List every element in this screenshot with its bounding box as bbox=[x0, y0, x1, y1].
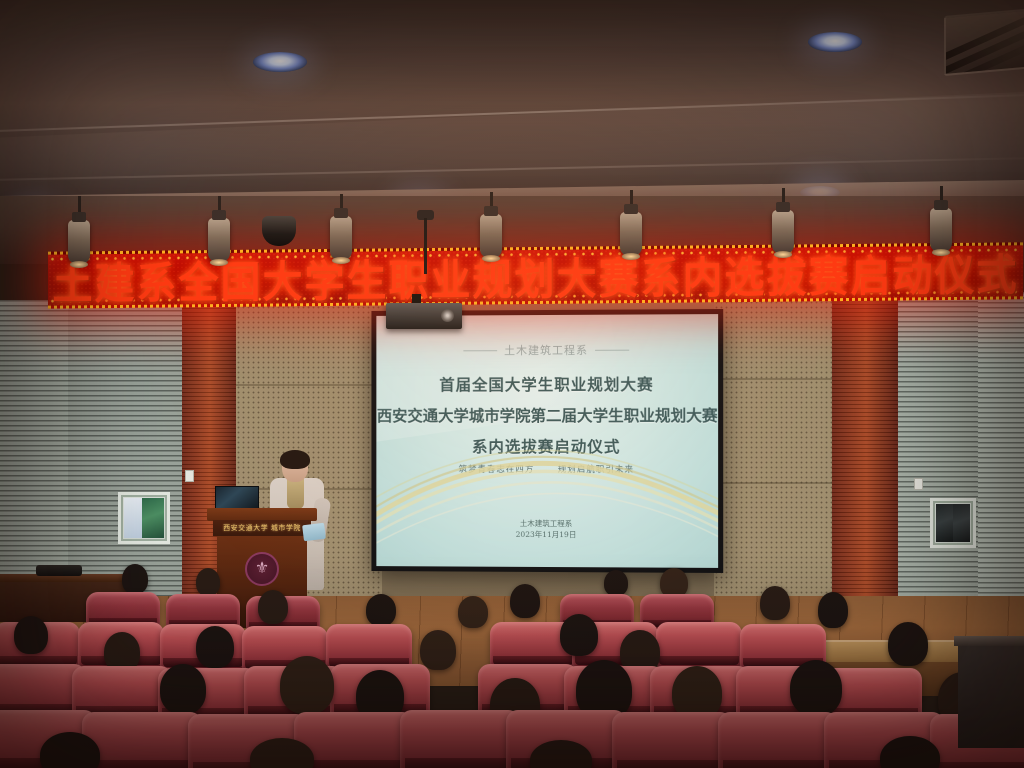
audience-head bbox=[122, 564, 148, 594]
audience-head bbox=[196, 568, 220, 596]
seat[interactable] bbox=[400, 710, 520, 768]
stage-spotlight bbox=[208, 218, 230, 262]
ceiling-projector bbox=[386, 303, 462, 329]
presentation-slide: 土木建筑工程系 首届全国大学生职业规划大赛 西安交通大学城市学院第二届大学生职业… bbox=[376, 314, 718, 568]
podium-monitor bbox=[215, 486, 259, 510]
slide-title-line-1: 首届全国大学生职业规划大赛 bbox=[376, 373, 718, 396]
stage-spotlight bbox=[330, 216, 352, 260]
podium-nameplate: 西安交通大学 城市学院 bbox=[213, 520, 311, 536]
seat[interactable] bbox=[718, 712, 838, 768]
audience-head bbox=[420, 630, 456, 670]
wall-switch-left[interactable] bbox=[185, 470, 194, 482]
stage-spotlight bbox=[480, 214, 502, 258]
wall-service-window-left[interactable] bbox=[118, 492, 170, 544]
wall-switch-right[interactable] bbox=[914, 478, 923, 490]
wall-service-window-right[interactable] bbox=[930, 498, 976, 548]
seat[interactable] bbox=[656, 622, 742, 668]
speaker-scarf bbox=[287, 479, 304, 509]
speaker-hair bbox=[280, 450, 310, 469]
auditorium-scene: 土木建筑工程系 首届全国大学生职业规划大赛 西安交通大学城市学院第二届大学生职业… bbox=[0, 0, 1024, 768]
audience-head bbox=[818, 592, 848, 628]
seat[interactable] bbox=[82, 712, 202, 768]
microphone-pole bbox=[424, 218, 427, 274]
slide-footer-date: 2023年11月19日 bbox=[376, 529, 718, 542]
side-desk bbox=[958, 636, 1024, 748]
audience-head bbox=[604, 570, 628, 596]
ceiling bbox=[0, 0, 1024, 200]
dome-camera bbox=[262, 216, 296, 246]
slide-header-rule-left bbox=[463, 350, 497, 351]
audience-head bbox=[258, 590, 288, 624]
ceiling-downlight bbox=[808, 32, 862, 52]
led-banner-text: 土建系全国大学生职业规划大赛系内选拔赛启动仪式 bbox=[53, 242, 1019, 308]
side-desk-top bbox=[954, 636, 1024, 646]
air-vent bbox=[944, 8, 1024, 76]
slide-ribbon-graphic bbox=[376, 417, 718, 568]
audience-head bbox=[14, 616, 48, 654]
slide-header-text: 土木建筑工程系 bbox=[504, 342, 588, 358]
slide-header: 土木建筑工程系 bbox=[376, 341, 718, 358]
led-banner: 土建系全国大学生职业规划大赛系内选拔赛启动仪式 bbox=[48, 242, 1023, 308]
projection-screen: 土木建筑工程系 首届全国大学生职业规划大赛 西安交通大学城市学院第二届大学生职业… bbox=[371, 309, 723, 573]
seat[interactable] bbox=[612, 712, 732, 768]
stage-spotlight bbox=[930, 208, 952, 252]
audience-head bbox=[280, 656, 334, 714]
projector-lens bbox=[441, 309, 454, 322]
audience-head bbox=[160, 664, 206, 714]
audience-head bbox=[366, 594, 396, 626]
stage-spotlight bbox=[68, 220, 90, 264]
podium-institution-text: 西安交通大学 城市学院 bbox=[223, 523, 301, 533]
audience-seating bbox=[0, 560, 1024, 768]
audience-head bbox=[196, 626, 234, 668]
stage-spotlight bbox=[620, 212, 642, 256]
stage-spotlight bbox=[772, 210, 794, 254]
audience-head bbox=[760, 586, 790, 620]
audience-head bbox=[560, 614, 598, 656]
audience-head bbox=[510, 584, 540, 618]
audience-head bbox=[888, 622, 928, 666]
audience-head bbox=[790, 660, 842, 716]
slide-footer: 土木建筑工程系 2023年11月19日 bbox=[376, 517, 718, 542]
speaker-notes bbox=[302, 523, 326, 542]
audience-head bbox=[458, 596, 488, 628]
acoustic-panel-center-right bbox=[714, 300, 834, 600]
slide-header-rule-right bbox=[595, 349, 629, 350]
ceiling-downlight bbox=[253, 52, 307, 72]
